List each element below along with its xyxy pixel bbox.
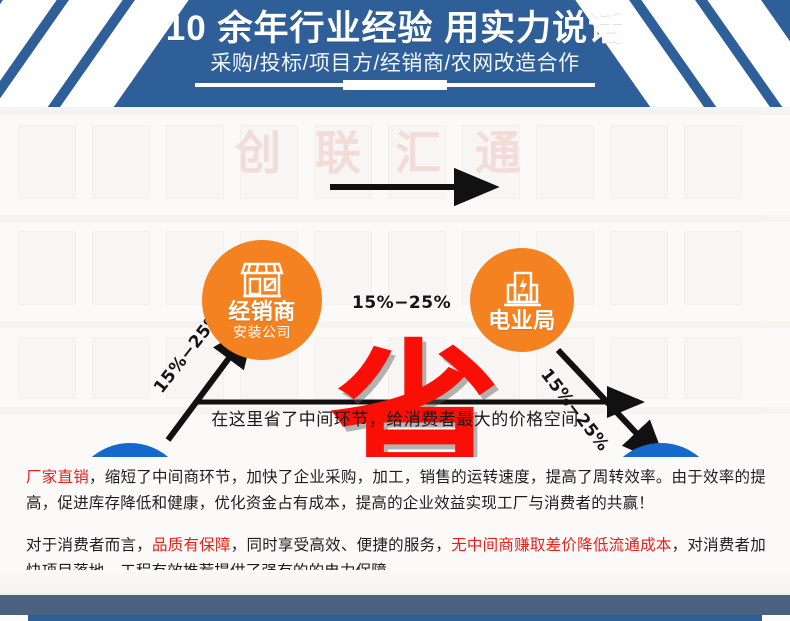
center-character-sheng: 省 <box>330 339 500 457</box>
brand-watermark: 创联汇通 <box>0 117 790 183</box>
title-divider <box>195 83 595 87</box>
arrow-label-dealer-to-bureau: 15%−25% <box>352 293 451 313</box>
page-header: 10 余年行业经验 用实力说话 采购/投标/项目方/经销商/农网改造合作 <box>0 0 790 107</box>
paragraph-1: 厂家直销，缩短了中间商环节，加快了企业采购，加工，销售的运转速度，提高了周转效率… <box>26 465 766 517</box>
header-content: 10 余年行业经验 用实力说话 采购/投标/项目方/经销商/农网改造合作 <box>0 0 790 107</box>
description-block: 厂家直销，缩短了中间商环节，加快了企业采购，加工，销售的运转速度，提高了周转效率… <box>0 457 790 588</box>
arrow-label-company-to-consumer: 在这里省了中间环节，给消费者最大的价格空间 <box>0 405 790 430</box>
footer-accent-strip <box>28 615 762 621</box>
page-subtitle: 采购/投标/项目方/经销商/农网改造合作 <box>210 51 579 77</box>
node-power-bureau[interactable]: 电业局 <box>470 248 574 352</box>
footer-fade <box>0 570 790 595</box>
flow-diagram: 创联汇通 省 15%−25% 15%−25% 15%−25% 在这里省了中间环节… <box>0 107 790 457</box>
node-power-bureau-label: 电业局 <box>488 309 556 332</box>
power-building-icon <box>500 269 544 309</box>
node-dealer[interactable]: 经销商 安装公司 <box>202 240 322 360</box>
paragraph-2-highlight-1: 品质有保障 <box>152 537 231 554</box>
paragraph-1-highlight: 厂家直销 <box>26 469 89 486</box>
page-title: 10 余年行业经验 用实力说话 <box>166 9 624 49</box>
footer-bar <box>0 595 790 615</box>
paragraph-2-text-a: 对于消费者而言， <box>26 537 152 554</box>
node-dealer-sublabel: 安装公司 <box>233 324 291 341</box>
paragraph-2-highlight-2: 无中间商赚取差价降低流通成本 <box>451 537 671 554</box>
paragraph-1-text: ，缩短了中间商环节，加快了企业采购，加工，销售的运转速度，提高了周转效率。由于效… <box>26 469 766 512</box>
paragraph-2-text-b: ，同时享受高效、便捷的服务， <box>231 537 451 554</box>
title-divider-knob <box>343 80 447 90</box>
shop-icon <box>237 260 287 300</box>
node-dealer-label: 经销商 <box>228 300 296 323</box>
promo-page: 10 余年行业经验 用实力说话 采购/投标/项目方/经销商/农网改造合作 <box>0 0 790 621</box>
